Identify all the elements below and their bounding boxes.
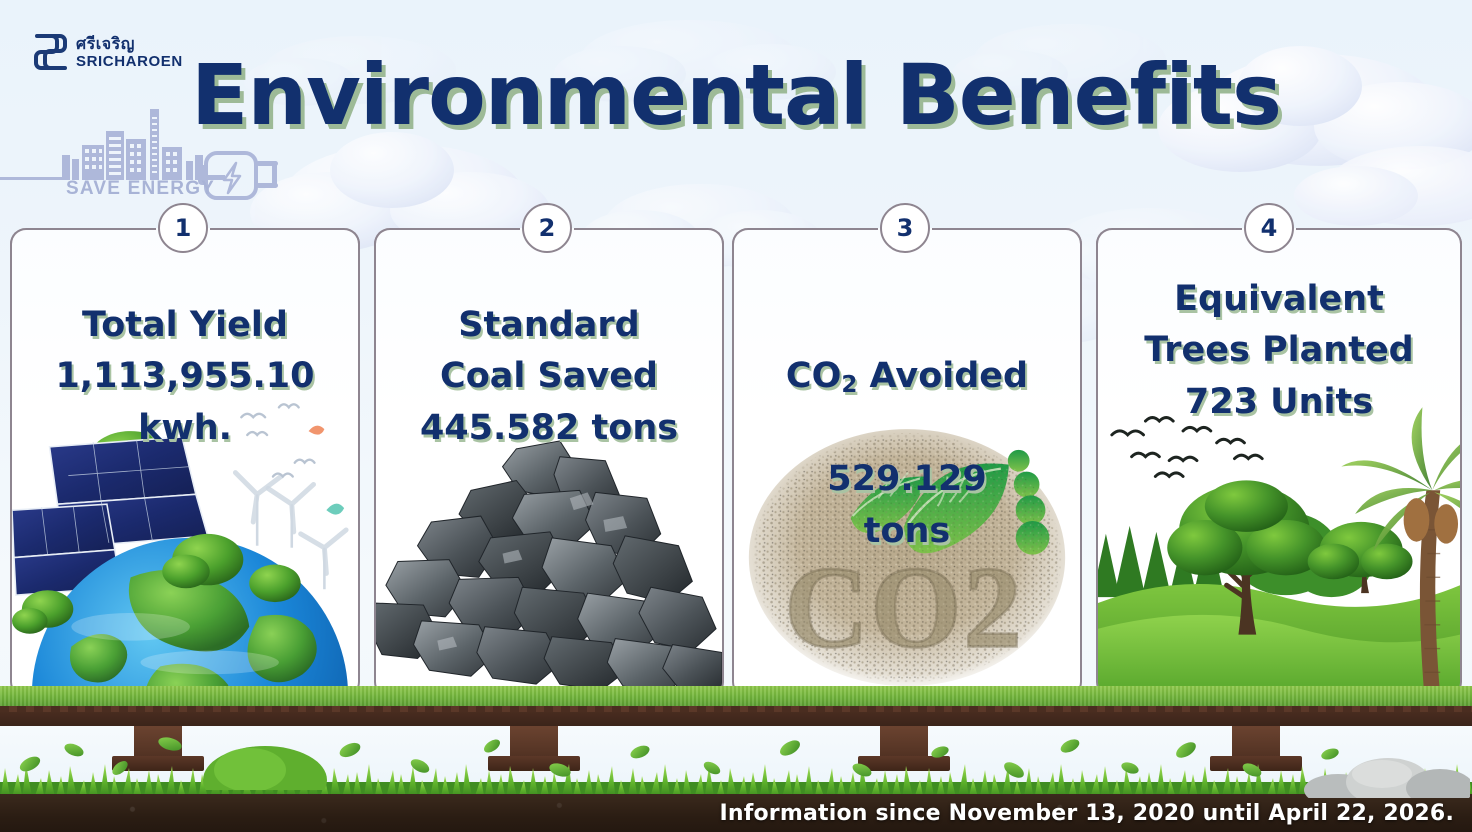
footer-information-note: Information since November 13, 2020 unti… [719, 801, 1454, 826]
card-caption-4: Equivalent Trees Planted 723 Units [1096, 274, 1462, 428]
card-top-border-1-right [210, 228, 342, 230]
card-caption-3-line2: 529.129 [827, 459, 986, 499]
card-top-border-1-left [26, 228, 156, 230]
card-top-border-4-left [1112, 228, 1242, 230]
card-corner-3-left [732, 228, 750, 246]
card-corner-1-right [342, 228, 360, 246]
card-caption-3: CO2 Avoided 529.129 tons [732, 300, 1082, 557]
card-caption-1: Total Yield 1,113,955.10 kwh. [10, 300, 360, 454]
benefit-card-1[interactable] [10, 228, 360, 698]
card-caption-3-line1: CO2 Avoided [786, 356, 1028, 396]
card-corner-3-right [1064, 228, 1082, 246]
infographic-canvas: ศรีเจริญ SRICHAROEN [0, 0, 1472, 832]
bush-shrub [200, 740, 330, 790]
card-badge-2: 2 [522, 203, 572, 253]
card-corner-2-right [706, 228, 724, 246]
card-badge-4: 4 [1244, 203, 1294, 253]
card-badge-3: 3 [880, 203, 930, 253]
card-top-border-3-right [932, 228, 1064, 230]
card-corner-2-left [374, 228, 392, 246]
benefit-card-2[interactable] [374, 228, 724, 698]
card-corner-4-left [1096, 228, 1114, 246]
card-top-border-2-right [574, 228, 706, 230]
card-top-border-3-left [748, 228, 878, 230]
card-corner-1-left [10, 228, 28, 246]
card-caption-2: Standard Coal Saved 445.582 tons [374, 300, 724, 454]
save-energy-tagline: SAVE ENERGY [66, 178, 215, 200]
card-top-border-2-left [390, 228, 520, 230]
card-badge-1: 1 [158, 203, 208, 253]
card-caption-3-unit: tons [864, 511, 951, 551]
stones-cluster [1300, 748, 1470, 798]
card-top-border-4-right [1296, 228, 1444, 230]
card-corner-4-right [1444, 228, 1462, 246]
page-title: Environmental Benefits [0, 46, 1472, 144]
green-hills-trees-art [1098, 396, 1460, 696]
